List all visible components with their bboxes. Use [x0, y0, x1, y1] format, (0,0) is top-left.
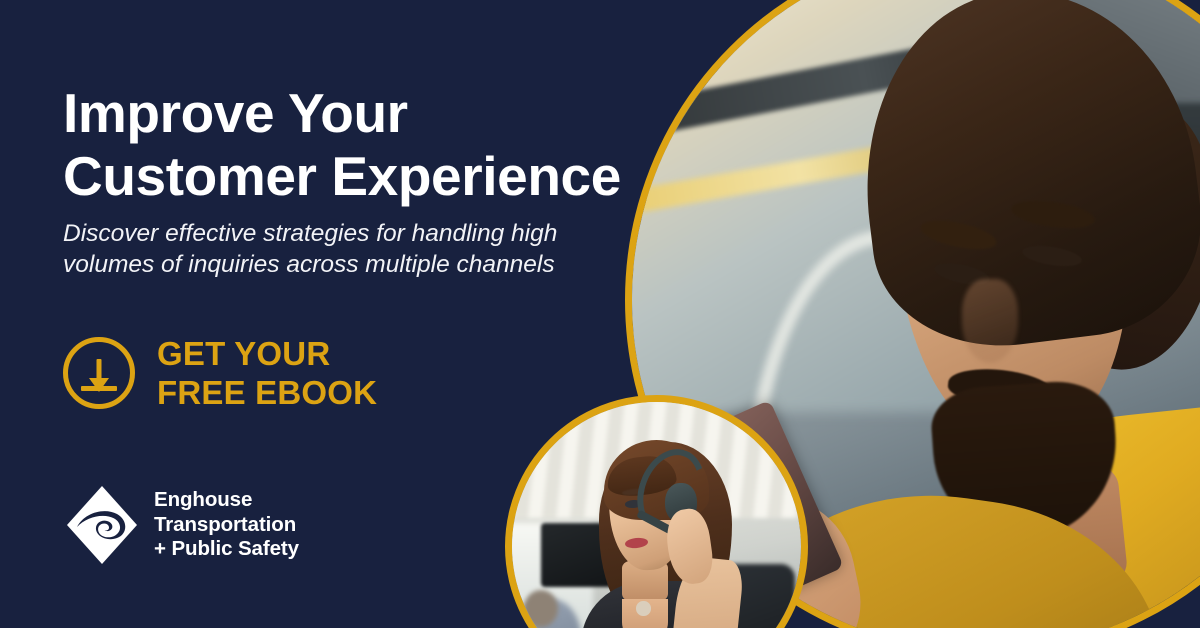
enghouse-diamond-eye-icon	[64, 483, 140, 567]
subheading: Discover effective strategies for handli…	[63, 218, 603, 280]
enghouse-wordmark: Enghouse Transportation + Public Safety	[154, 488, 299, 562]
logo-line-3: + Public Safety	[154, 537, 299, 562]
subheading-line-2: volumes of inquiries across multiple cha…	[63, 249, 603, 280]
logo-line-2: Transportation	[154, 513, 299, 538]
cta-label[interactable]: GET YOUR FREE EBOOK	[157, 334, 377, 412]
subheading-line-1: Discover effective strategies for handli…	[63, 218, 603, 249]
cta-line-1: GET YOUR	[157, 334, 377, 373]
enghouse-logo[interactable]: Enghouse Transportation + Public Safety	[64, 483, 299, 567]
logo-line-1: Enghouse	[154, 488, 299, 513]
get-free-ebook-button[interactable]: GET YOUR FREE EBOOK	[63, 334, 377, 412]
download-circle-icon[interactable]	[63, 337, 135, 409]
download-base-line	[81, 386, 117, 391]
cta-line-2: FREE EBOOK	[157, 373, 377, 412]
man-nose	[962, 279, 1018, 363]
promotional-banner: Improve Your Customer Experience Discove…	[0, 0, 1200, 628]
headline-line-2: Customer Experience	[63, 145, 623, 208]
headline-line-1: Improve Your	[63, 82, 623, 145]
banner-content: Improve Your Customer Experience Discove…	[0, 0, 640, 628]
page-title: Improve Your Customer Experience	[63, 82, 623, 208]
